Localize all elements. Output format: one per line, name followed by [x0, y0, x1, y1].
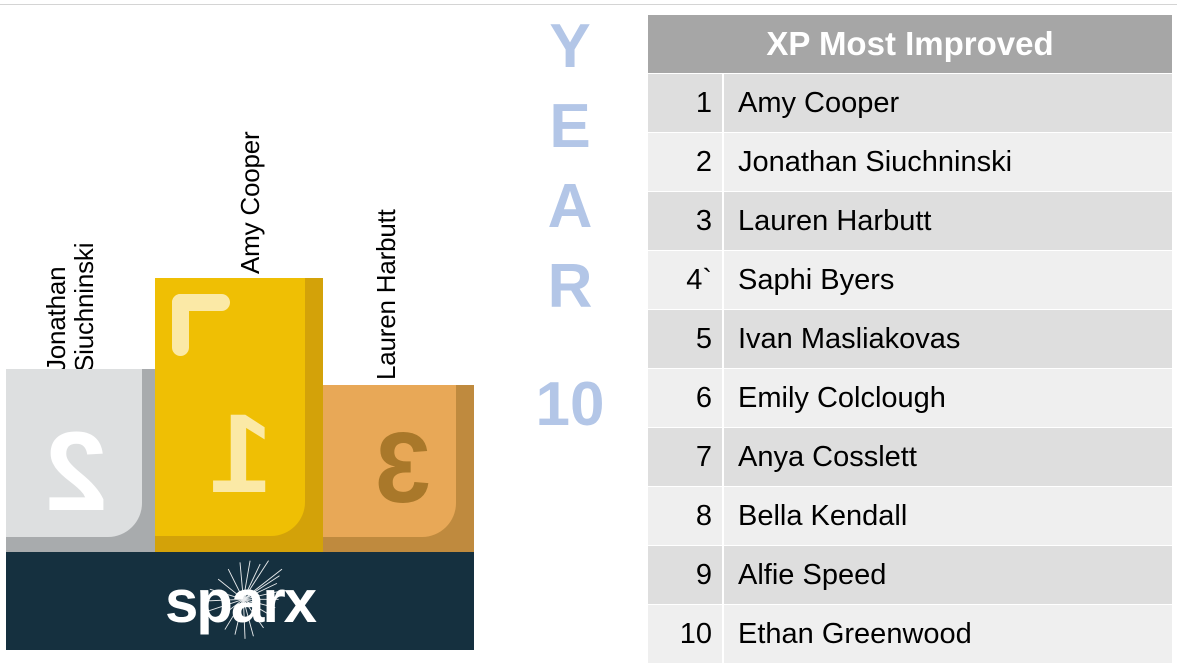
podium-digit-third: 3 — [375, 418, 431, 518]
row-rank: 6 — [648, 369, 722, 427]
row-rank: 1 — [648, 74, 722, 132]
table-row: 8 Bella Kendall — [648, 487, 1172, 545]
year-letter-1: Y — [505, 16, 635, 78]
table-row: 2 Jonathan Siuchninski — [648, 133, 1172, 191]
row-rank: 3 — [648, 192, 722, 250]
year-number: 10 — [505, 374, 635, 436]
podium-digit-first: 1 — [210, 398, 272, 510]
row-rank: 7 — [648, 428, 722, 486]
year-letter-2: E — [505, 96, 635, 158]
row-rank: 4` — [648, 251, 722, 309]
podium-panel: Jonathan Siuchninski Amy Cooper Lauren H… — [0, 0, 500, 668]
row-name: Lauren Harbutt — [724, 192, 1172, 250]
table-row: 10 Ethan Greenwood — [648, 605, 1172, 663]
row-name: Saphi Byers — [724, 251, 1172, 309]
podium-name-third: Lauren Harbutt — [372, 209, 400, 380]
row-name: Bella Kendall — [724, 487, 1172, 545]
podium-name-first: Amy Cooper — [236, 132, 264, 275]
row-rank: 10 — [648, 605, 722, 663]
row-name: Alfie Speed — [724, 546, 1172, 604]
row-rank: 8 — [648, 487, 722, 545]
table-row: 3 Lauren Harbutt — [648, 192, 1172, 250]
leaderboard: XP Most Improved 1 Amy Cooper 2 Jonathan… — [648, 15, 1172, 663]
year-letter-4: R — [505, 256, 635, 318]
row-name: Amy Cooper — [724, 74, 1172, 132]
row-name: Anya Cosslett — [724, 428, 1172, 486]
table-row: 5 Ivan Masliakovas — [648, 310, 1172, 368]
table-row: 4` Saphi Byers — [648, 251, 1172, 309]
year-letter-3: A — [505, 176, 635, 238]
row-name: Emily Colclough — [724, 369, 1172, 427]
podium-name-second: Jonathan Siuchninski — [42, 243, 98, 372]
brand-bar: sparx — [6, 552, 474, 650]
sparx-logo: sparx — [6, 552, 474, 650]
corner-bracket-icon — [172, 294, 230, 356]
table-row: 6 Emily Colclough — [648, 369, 1172, 427]
sparx-wordmark: sparx — [165, 567, 315, 636]
row-rank: 5 — [648, 310, 722, 368]
row-name: Jonathan Siuchninski — [724, 133, 1172, 191]
podium-digit-second: 2 — [45, 416, 107, 528]
year-label-column: Y E A R 10 — [505, 0, 635, 668]
row-name: Ethan Greenwood — [724, 605, 1172, 663]
row-name: Ivan Masliakovas — [724, 310, 1172, 368]
table-row: 1 Amy Cooper — [648, 74, 1172, 132]
table-row: 7 Anya Cosslett — [648, 428, 1172, 486]
leaderboard-title: XP Most Improved — [648, 15, 1172, 73]
row-rank: 9 — [648, 546, 722, 604]
row-rank: 2 — [648, 133, 722, 191]
table-row: 9 Alfie Speed — [648, 546, 1172, 604]
